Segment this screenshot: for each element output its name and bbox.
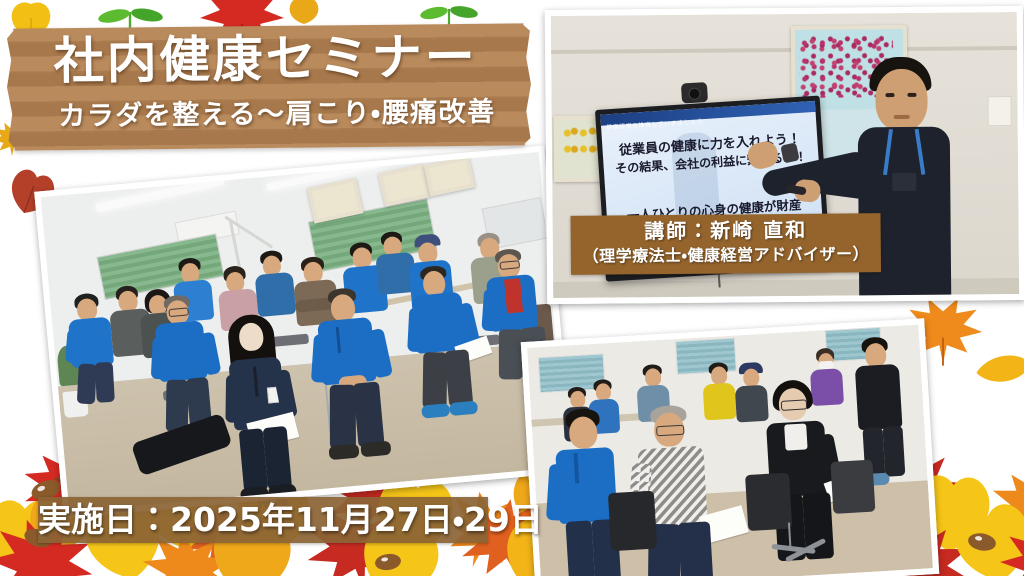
instructor-name: 講師：新崎 直和: [571, 216, 881, 245]
title-plank-banner: 社内健康セミナー カラダを整える〜肩こり・腰痛改善: [13, 23, 524, 150]
slide-header-text: 健康経営を推進していきましょう: [601, 118, 704, 132]
chair: [608, 491, 657, 552]
webcam-icon: [681, 82, 708, 104]
attendees-closeup-content: [527, 325, 933, 576]
seminar-attendees-closeup-photo: [521, 318, 939, 576]
instructor-photo-content: 健康経営を推進していきましょう 従業員の健康に力を入れよう！ その結果、会社の利…: [551, 12, 1019, 298]
event-date-banner: 実施日：2025年11月27日・29日: [38, 497, 488, 543]
instructor-credentials: （理学療法士・健康経営アドバイザー）: [571, 242, 881, 269]
audience-photo-content: [41, 152, 568, 512]
chair: [830, 460, 875, 514]
instructor-caption-ribbon: 講師：新崎 直和 （理学療法士・健康経営アドバイザー）: [571, 213, 882, 275]
id-badge: [892, 173, 916, 191]
seminar-room-audience-photo: [34, 145, 574, 518]
instructor-presenting-photo: 健康経営を推進していきましょう 従業員の健康に力を入れよう！ その結果、会社の利…: [545, 6, 1024, 304]
page-title: 社内健康セミナー: [53, 30, 478, 88]
chair: [745, 473, 792, 532]
page-subtitle: カラダを整える〜肩こり・腰痛改善: [58, 90, 496, 134]
ginkgo-leaf-icon: [286, 0, 322, 26]
ginkgo-leaf-icon: [974, 352, 1024, 390]
health-seminar-poster: 健康経営を推進していきましょう 従業員の健康に力を入れよう！ その結果、会社の利…: [0, 0, 1024, 576]
